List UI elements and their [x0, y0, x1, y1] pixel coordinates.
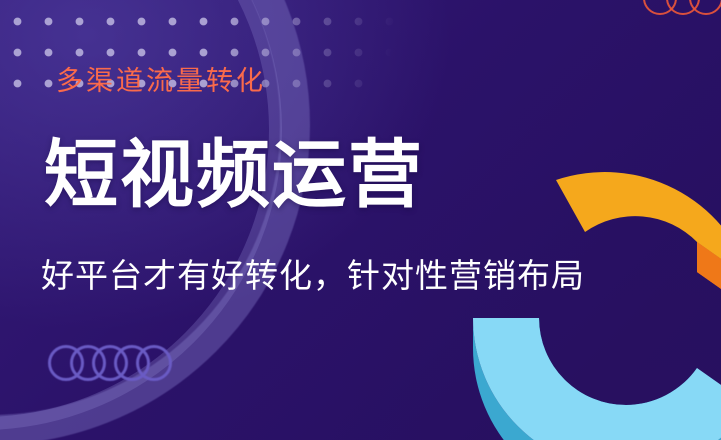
promo-banner: 多渠道流量转化 短视频运营 好平台才有好转化，针对性营销布局	[0, 0, 721, 440]
banner-text-block: 多渠道流量转化 短视频运营 好平台才有好转化，针对性营销布局	[0, 0, 721, 440]
banner-subline: 好平台才有好转化，针对性营销布局	[41, 258, 585, 298]
banner-eyebrow: 多渠道流量转化	[56, 68, 266, 95]
banner-headline: 短视频运营	[44, 137, 424, 214]
